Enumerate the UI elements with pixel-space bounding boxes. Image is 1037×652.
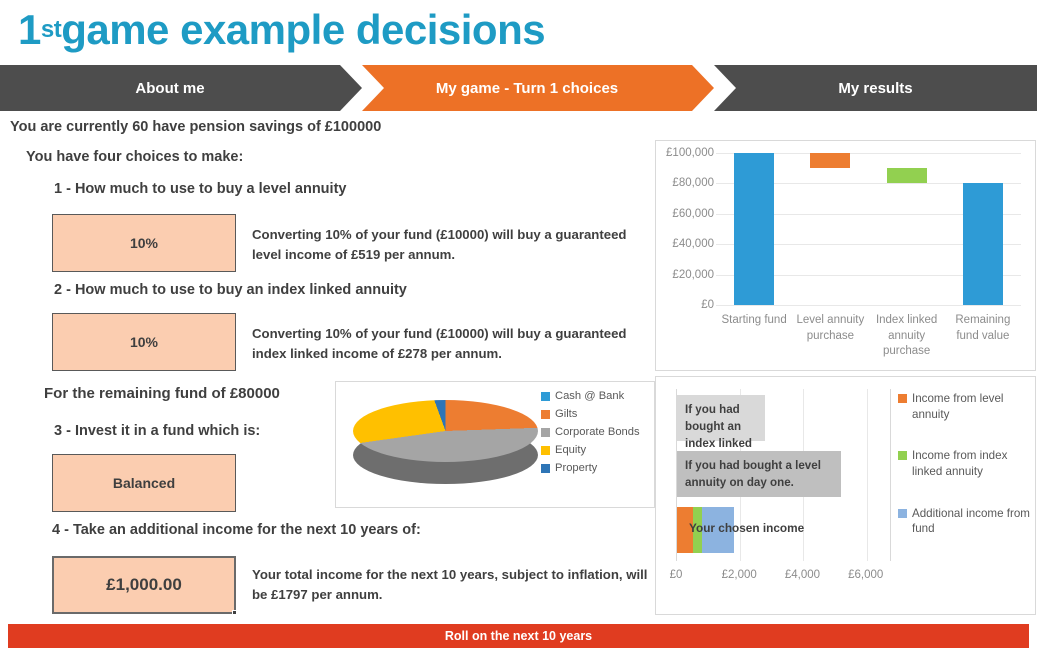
waterfall-bar xyxy=(963,183,1003,305)
waterfall-y-tick: £80,000 xyxy=(642,177,714,189)
page-title-lead: 1 xyxy=(18,6,41,54)
pie-legend: Cash @ BankGiltsCorporate BondsEquityPro… xyxy=(541,390,651,480)
income-plot-area: If you had bought an index linked annuit… xyxy=(676,389,891,561)
waterfall-y-tick: £100,000 xyxy=(642,147,714,159)
pie-legend-swatch xyxy=(541,446,550,455)
roll-forward-label: Roll on the next 10 years xyxy=(445,629,592,643)
question-4-label: 4 - Take an additional income for the ne… xyxy=(52,522,421,538)
waterfall-gridline xyxy=(716,305,1021,306)
pie-legend-label: Property xyxy=(555,462,597,474)
pie-legend-swatch xyxy=(541,428,550,437)
tab-my-game-label: My game - Turn 1 choices xyxy=(436,80,618,97)
waterfall-bar xyxy=(810,153,850,168)
waterfall-x-tick: Starting fund xyxy=(716,313,792,329)
fund-allocation-chart: Cash @ BankGiltsCorporate BondsEquityPro… xyxy=(335,381,655,508)
pie-legend-item: Corporate Bonds xyxy=(541,426,651,438)
index-linked-annuity-note: Converting 10% of your fund (£10000) wil… xyxy=(252,324,632,365)
income-x-tick: £6,000 xyxy=(848,569,883,581)
income-x-axis: £0£2,000£4,000£6,000 xyxy=(676,569,911,585)
income-x-tick: £2,000 xyxy=(722,569,757,581)
income-comparison-chart: If you had bought an index linked annuit… xyxy=(655,376,1036,615)
income-annotation-label: If you had bought a level annuity on day… xyxy=(677,451,841,492)
intro-text: You are currently 60 have pension saving… xyxy=(10,119,381,135)
income-gridline xyxy=(867,389,868,561)
income-legend-label: Income from index linked annuity xyxy=(912,448,1033,479)
question-3-label: 3 - Invest it in a fund which is: xyxy=(54,423,260,439)
pie-legend-swatch xyxy=(541,410,550,419)
income-bar-row: Your chosen income xyxy=(677,507,734,553)
income-legend-label: Income from level annuity xyxy=(912,391,1033,422)
waterfall-x-tick: Index linked annuity purchase xyxy=(869,313,945,360)
income-bar-row: If you had bought an index linked annuit… xyxy=(677,395,765,441)
page-title-sup: st xyxy=(41,16,61,44)
income-legend: Income from level annuityIncome from ind… xyxy=(898,391,1033,563)
income-legend-label: Additional income from fund xyxy=(912,506,1033,537)
additional-income-value: £1,000.00 xyxy=(106,575,182,595)
income-x-tick: £4,000 xyxy=(785,569,820,581)
pie-legend-item: Equity xyxy=(541,444,651,456)
page-title: 1stgame example decisions xyxy=(18,0,545,60)
roll-forward-button[interactable]: Roll on the next 10 years xyxy=(8,624,1029,648)
pie-legend-label: Equity xyxy=(555,444,586,456)
income-bar-row: If you had bought a level annuity on day… xyxy=(677,451,841,497)
waterfall-plot-area xyxy=(716,153,1021,305)
fund-style-input[interactable]: Balanced xyxy=(52,454,236,512)
pie-3d-top xyxy=(353,400,538,462)
cell-fill-handle[interactable] xyxy=(232,610,237,615)
pie-legend-item: Cash @ Bank xyxy=(541,390,651,402)
waterfall-y-tick: £0 xyxy=(642,299,714,311)
waterfall-y-tick: £20,000 xyxy=(642,269,714,281)
remaining-fund-text: For the remaining fund of £80000 xyxy=(44,385,280,402)
tab-my-results-label: My results xyxy=(838,80,912,97)
income-x-tick: £0 xyxy=(670,569,683,581)
income-bar-label: Your chosen income xyxy=(689,521,804,535)
waterfall-bar xyxy=(887,168,927,183)
income-legend-item: Income from index linked annuity xyxy=(898,448,1033,479)
fund-waterfall-chart: £0£20,000£40,000£60,000£80,000£100,000 S… xyxy=(655,140,1036,371)
slide-root: 1stgame example decisions About me My ga… xyxy=(0,0,1037,652)
decisions-panel: You are currently 60 have pension saving… xyxy=(0,113,656,618)
pie-legend-item: Gilts xyxy=(541,408,651,420)
tab-ribbon: About me My game - Turn 1 choices My res… xyxy=(0,65,1037,111)
additional-income-note: Your total income for the next 10 years,… xyxy=(252,565,652,606)
pie-legend-swatch xyxy=(541,392,550,401)
waterfall-x-tick: Level annuity purchase xyxy=(792,313,868,344)
pie-legend-label: Cash @ Bank xyxy=(555,390,624,402)
question-2-label: 2 - How much to use to buy an index link… xyxy=(54,282,407,298)
pie-legend-swatch xyxy=(541,464,550,473)
page-title-rest: game example decisions xyxy=(61,6,545,54)
index-linked-annuity-value: 10% xyxy=(130,334,158,350)
pie-legend-label: Corporate Bonds xyxy=(555,426,640,438)
question-1-label: 1 - How much to use to buy a level annui… xyxy=(54,181,346,197)
index-linked-annuity-input[interactable]: 10% xyxy=(52,313,236,371)
choices-heading: You have four choices to make: xyxy=(26,149,243,165)
tab-my-results[interactable]: My results xyxy=(714,65,1037,111)
level-annuity-value: 10% xyxy=(130,235,158,251)
income-legend-item: Additional income from fund xyxy=(898,506,1033,537)
fund-style-value: Balanced xyxy=(113,475,175,491)
pie-graphic xyxy=(353,400,538,495)
pie-legend-label: Gilts xyxy=(555,408,577,420)
additional-income-input[interactable]: £1,000.00 xyxy=(52,556,236,614)
pie-area xyxy=(348,392,543,500)
waterfall-bar xyxy=(734,153,774,305)
waterfall-y-tick: £40,000 xyxy=(642,238,714,250)
tab-my-game[interactable]: My game - Turn 1 choices xyxy=(362,65,692,111)
pie-legend-item: Property xyxy=(541,462,651,474)
income-legend-item: Income from level annuity xyxy=(898,391,1033,422)
level-annuity-note: Converting 10% of your fund (£10000) wil… xyxy=(252,225,632,266)
income-legend-swatch xyxy=(898,509,907,518)
waterfall-y-tick: £60,000 xyxy=(642,208,714,220)
level-annuity-input[interactable]: 10% xyxy=(52,214,236,272)
waterfall-x-tick: Remaining fund value xyxy=(945,313,1021,344)
tab-about-me-label: About me xyxy=(135,80,204,97)
income-legend-swatch xyxy=(898,394,907,403)
income-legend-swatch xyxy=(898,451,907,460)
tab-about-me[interactable]: About me xyxy=(0,65,340,111)
